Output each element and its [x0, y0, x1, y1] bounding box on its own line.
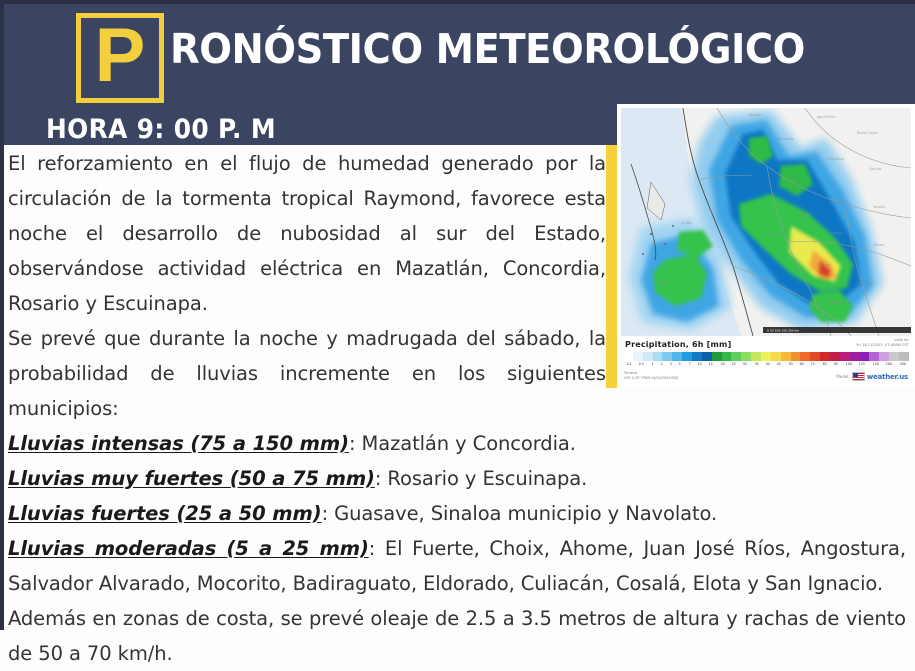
svg-text:Nuevo Casas: Nuevo Casas: [857, 131, 878, 135]
page-title: RONÓSTICO METEOROLÓGICO: [170, 25, 805, 73]
svg-text:Hermosillo: Hermosillo: [777, 137, 794, 141]
paragraph-2: Se prevé que durante la noche y madrugad…: [8, 321, 606, 426]
paragraph-3: Además en zonas de costa, se prevé oleaj…: [8, 601, 906, 671]
rain-category-label: Lluvias muy fuertes (50 a 75 mm): [8, 467, 375, 490]
rain-category-label: Lluvias fuertes (25 a 50 mm): [8, 502, 322, 525]
rain-category-muy-fuertes: Lluvias muy fuertes (50 a 75 mm): Rosari…: [8, 461, 906, 496]
rain-category-fuertes: Lluvias fuertes (25 a 50 mm): Guasave, S…: [8, 496, 906, 531]
rain-category-municipios: : Mazatlán y Concordia.: [349, 432, 576, 455]
rain-category-moderadas: Lluvias moderadas (5 a 25 mm): El Fuerte…: [8, 531, 906, 601]
svg-text:Agua Prieta: Agua Prieta: [817, 115, 835, 119]
logo-letter-p: P: [81, 18, 159, 98]
rain-category-intensas: Lluvias intensas (75 a 150 mm): Mazatlán…: [8, 426, 906, 461]
forecast-hour-label: HORA 9: 00 P. M: [46, 114, 276, 145]
svg-text:Nogales: Nogales: [749, 113, 762, 117]
forecast-body: El reforzamiento en el flujo de humedad …: [8, 146, 906, 671]
rain-category-label: Lluvias moderadas (5 a 25 mm): [8, 537, 369, 560]
rain-category-municipios: : Rosario y Escuinapa.: [375, 467, 587, 490]
paragraph-1: El reforzamiento en el flujo de humedad …: [8, 146, 606, 321]
rain-category-municipios: : Guasave, Sinaloa municipio y Navolato.: [322, 502, 718, 525]
logo-box: P: [76, 13, 164, 103]
rain-category-label: Lluvias intensas (75 a 150 mm): [8, 432, 349, 455]
